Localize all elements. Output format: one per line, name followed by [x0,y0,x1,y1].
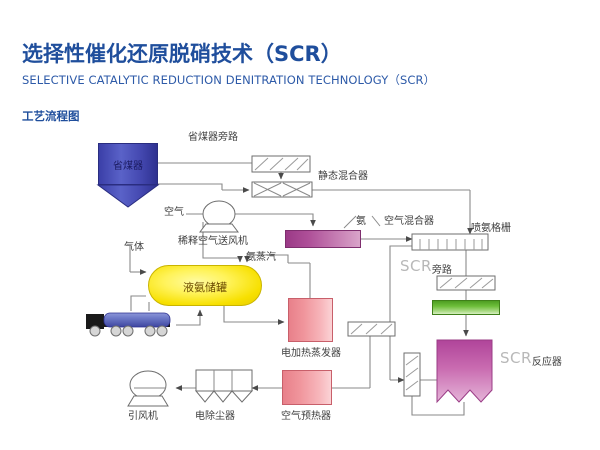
damper-bypass-horizontal[interactable] [348,322,395,336]
damper-preheater-vertical[interactable] [404,353,420,396]
dilution-air-fan-shape [200,201,238,232]
scr-reactor-shape [437,340,492,402]
label-id-fan: 引风机 [128,407,158,422]
esp-shape [196,370,252,402]
scr-catalyst-layer [432,300,500,315]
slide-canvas: 选择性催化还原脱硝技术（SCR） SELECTIVE CATALYTIC RED… [0,0,600,450]
id-fan-shape [128,371,168,406]
label-ammonia-vapor: 氨蒸汽 [246,248,276,263]
label-scr-reactor-suffix: 反应器 [532,357,562,368]
economizer-label: 省煤器 [98,157,158,172]
label-scr-reactor-prefix: SCR [500,349,532,367]
label-ammonia-air-mixer: 空气混合器 [384,212,434,227]
label-air-preheater: 空气预热器 [281,407,331,422]
label-electric-heater-evaporator: 电加热蒸发器 [281,344,341,359]
damper-scr-inlet[interactable] [437,276,495,290]
label-ammonia-injection-grid: 喷氨格栅 [471,219,511,234]
label-scr-bypass-suffix: 旁路 [432,265,452,276]
electric-heater-evaporator [288,298,333,342]
label-dilution-air-fan: 稀释空气送风机 [178,232,248,247]
label-economizer-bypass: 省煤器旁路 [188,128,238,143]
ammonia-storage-tank-label: 液氨储罐 [148,279,262,295]
static-mixer-shape [252,182,312,197]
process-flow-diagram: 省煤器 液氨储罐 省煤器旁路 静态混合器 空气 稀释空气送风机 气体 氨 空气混… [0,0,600,450]
ammonia-air-mixer [285,230,361,248]
label-esp: 电除尘器 [195,407,235,422]
label-scr-reactor: SCR反应器 [500,348,562,367]
label-ammonia: 氨 [356,212,366,227]
ammonia-injection-grid-shape [412,234,488,250]
ammonia-tanker-truck-shape [86,313,170,336]
air-preheater [282,370,332,405]
label-air: 空气 [164,203,184,218]
label-static-mixer: 静态混合器 [318,167,368,182]
label-scr-bypass: SCR旁路 [400,256,452,275]
label-scr-bypass-prefix: SCR [400,257,432,275]
damper-economizer-bypass[interactable] [252,156,310,172]
economizer-hopper-shape [98,185,158,207]
label-gas: 气体 [124,238,144,253]
